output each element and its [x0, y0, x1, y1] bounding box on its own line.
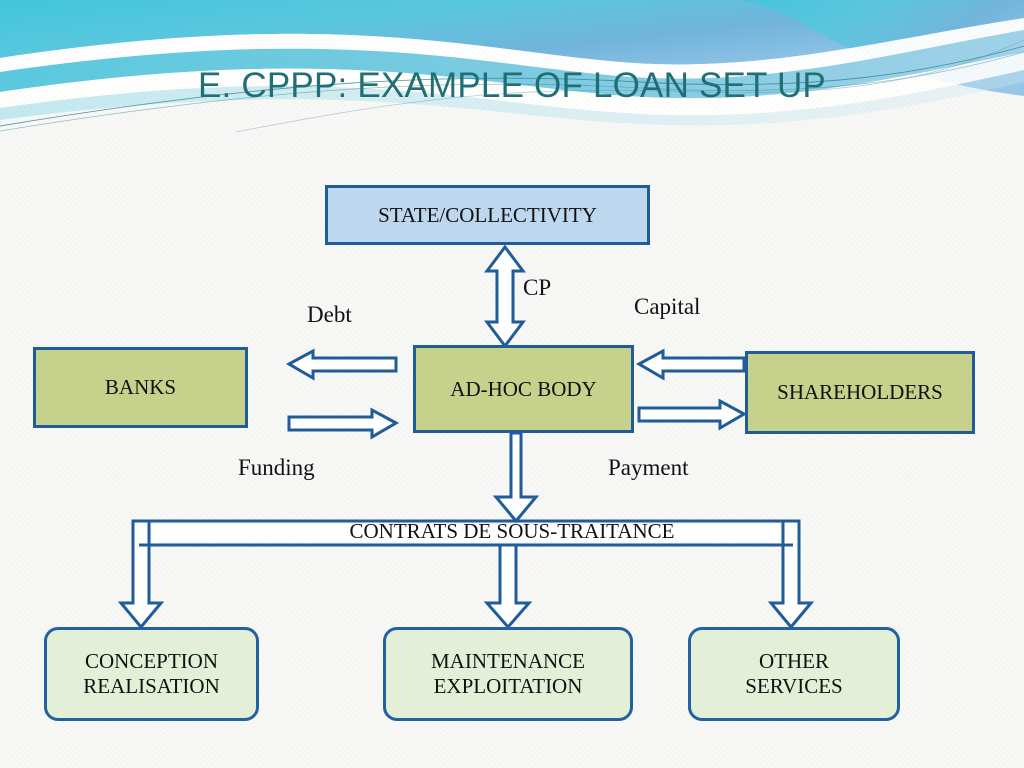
edge-label-cp: CP: [523, 275, 551, 301]
contrats-bar-label: CONTRATS DE SOUS-TRAITANCE: [0, 519, 1024, 544]
node-banks[interactable]: BANKS: [33, 347, 248, 428]
node-label: BANKS: [105, 375, 176, 400]
node-label-line2: SERVICES: [745, 674, 843, 698]
arrow-state-adhoc: [487, 247, 523, 346]
node-conception-realisation[interactable]: CONCEPTION REALISATION: [44, 627, 259, 721]
node-label: OTHER SERVICES: [745, 649, 843, 699]
slide-canvas: E. CPPP: EXAMPLE OF LOAN SET UP STATE/CO…: [0, 0, 1024, 768]
arrow-adhoc-shareholders: [639, 401, 744, 428]
node-maintenance-exploitation[interactable]: MAINTENANCE EXPLOITATION: [383, 627, 633, 721]
edge-label-payment: Payment: [608, 455, 689, 481]
node-label: STATE/COLLECTIVITY: [378, 203, 597, 228]
node-label: SHAREHOLDERS: [777, 380, 943, 405]
node-other-services[interactable]: OTHER SERVICES: [688, 627, 900, 721]
node-label-line1: CONCEPTION: [85, 649, 218, 673]
edge-label-funding: Funding: [238, 455, 315, 481]
node-label-line1: MAINTENANCE: [431, 649, 585, 673]
edge-label-debt: Debt: [307, 302, 352, 328]
arrow-adhoc-banks: [289, 351, 396, 378]
node-label: MAINTENANCE EXPLOITATION: [431, 649, 585, 699]
node-label: CONCEPTION REALISATION: [83, 649, 220, 699]
node-label-line1: OTHER: [759, 649, 829, 673]
node-label: AD-HOC BODY: [450, 377, 596, 402]
edge-label-capital: Capital: [634, 294, 700, 320]
node-shareholders[interactable]: SHAREHOLDERS: [745, 351, 975, 434]
arrow-shareholders-adhoc: [639, 351, 744, 378]
node-label-line2: EXPLOITATION: [434, 674, 583, 698]
node-label-line2: REALISATION: [83, 674, 220, 698]
node-state-collectivity[interactable]: STATE/COLLECTIVITY: [325, 185, 650, 245]
arrow-contrats-maintenance: [487, 545, 529, 627]
arrow-adhoc-contrats: [496, 433, 536, 521]
arrow-banks-adhoc: [289, 410, 396, 437]
node-ad-hoc-body[interactable]: AD-HOC BODY: [413, 345, 634, 433]
